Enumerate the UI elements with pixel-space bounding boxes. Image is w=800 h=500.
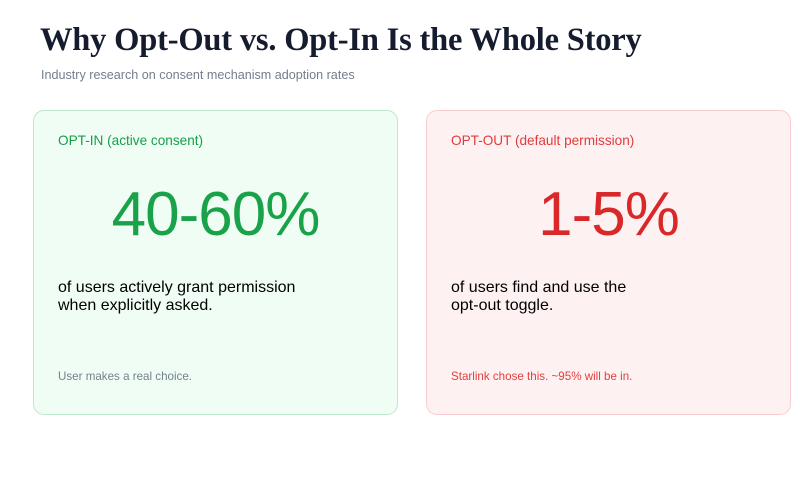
card-body-line-1: of users find and use the bbox=[451, 279, 766, 297]
page-subtitle: Industry research on consent mechanism a… bbox=[41, 67, 770, 83]
card-body-line-2: opt-out toggle. bbox=[451, 297, 766, 315]
card-body-line-1: of users actively grant permission bbox=[58, 279, 373, 297]
card-note-opt-in: User makes a real choice. bbox=[58, 369, 373, 385]
comparison-cards: OPT-IN (active consent) 40-60% of users … bbox=[33, 110, 791, 415]
stat-value-container-opt-in: 40-60% bbox=[58, 151, 373, 279]
card-label-opt-in: OPT-IN (active consent) bbox=[58, 133, 373, 149]
stat-value-opt-in: 40-60% bbox=[112, 184, 320, 246]
stat-value-opt-out: 1-5% bbox=[538, 184, 679, 246]
card-note-opt-out: Starlink chose this. ~95% will be in. bbox=[451, 369, 766, 385]
stat-card-opt-in: OPT-IN (active consent) 40-60% of users … bbox=[33, 110, 398, 415]
slide-header: Why Opt-Out vs. Opt-In Is the Whole Stor… bbox=[40, 22, 770, 84]
card-label-term: OPT-IN bbox=[58, 133, 103, 148]
slide-root: Why Opt-Out vs. Opt-In Is the Whole Stor… bbox=[0, 0, 800, 500]
stat-card-opt-out: OPT-OUT (default permission) 1-5% of use… bbox=[426, 110, 791, 415]
card-label-qualifier: (default permission) bbox=[511, 133, 634, 148]
card-label-term: OPT-OUT bbox=[451, 133, 511, 148]
stat-value-container-opt-out: 1-5% bbox=[451, 151, 766, 279]
card-label-qualifier: (active consent) bbox=[103, 133, 203, 148]
card-body-line-2: when explicitly asked. bbox=[58, 297, 373, 315]
page-title: Why Opt-Out vs. Opt-In Is the Whole Stor… bbox=[40, 22, 770, 58]
card-label-opt-out: OPT-OUT (default permission) bbox=[451, 133, 766, 149]
